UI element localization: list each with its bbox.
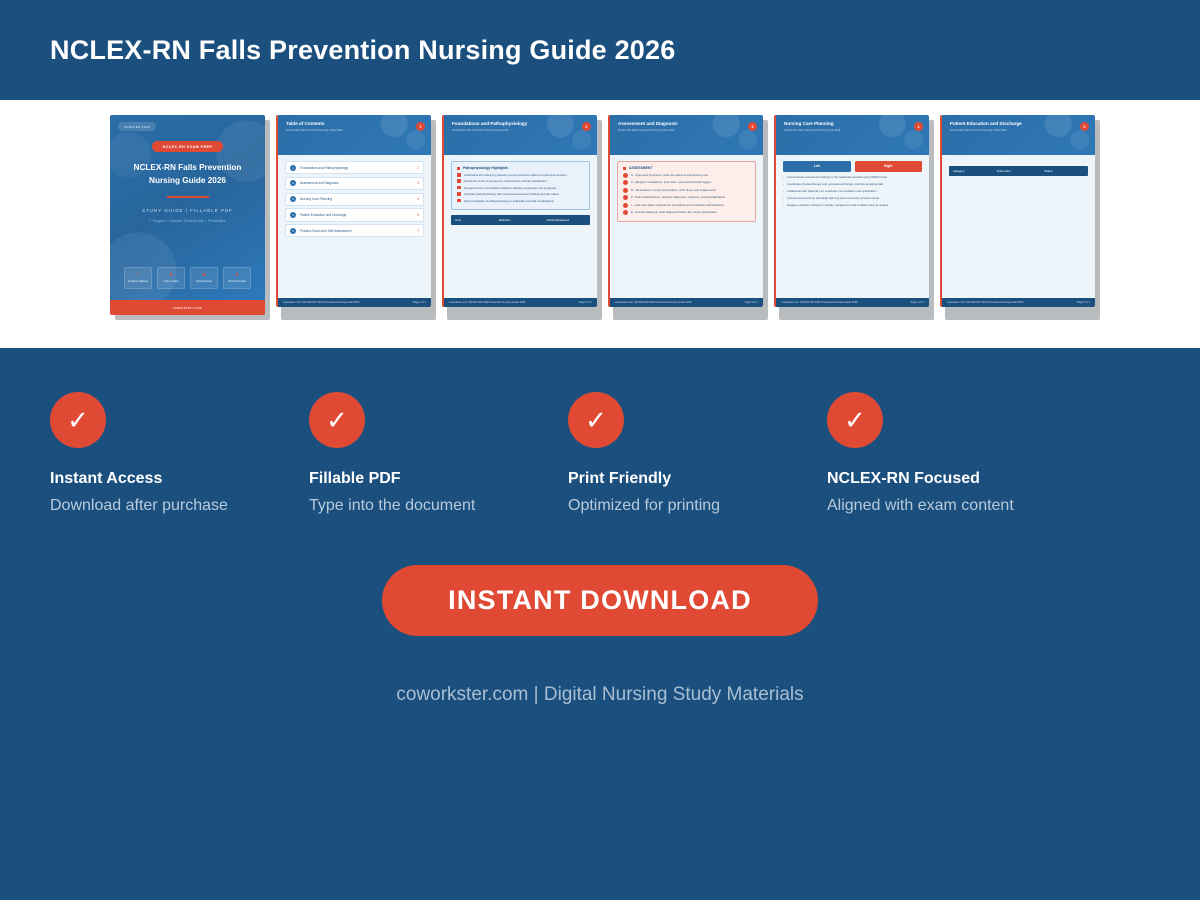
square-icon: ■ — [202, 273, 205, 278]
marker-icon — [457, 186, 461, 190]
care-item: ›Communicate assessment findings to the … — [783, 175, 922, 179]
table-col-header: Action Item — [993, 166, 1041, 176]
care-item: ›Consult social work for discharge plann… — [783, 196, 922, 200]
assessment-box: ASSESSMENT S - Signs and Symptoms: what … — [617, 161, 756, 222]
page-number-badge: 1 — [416, 122, 425, 131]
page-heading: Table of Contents — [286, 121, 423, 126]
assessment-item: A - Allergies: medications, food, latex,… — [623, 180, 750, 185]
toc-bullet: 1 — [290, 165, 296, 171]
cover-feature-label: Evidence Based — [128, 280, 147, 283]
highlights-box: Pathophysiology Highlights Understand th… — [451, 161, 590, 210]
assessment-title: ASSESSMENT — [623, 166, 750, 170]
marker-icon — [623, 203, 628, 208]
page-header: NCLEX-RN Falls Prevention Nursing Guide … — [0, 0, 1200, 100]
check-icon: ✓ — [568, 392, 624, 448]
thumbnail-strip: UPDATED 2026 NCLEX-RN EXAM PREP NCLEX-RN… — [0, 100, 1200, 348]
table-col-header: Definition — [495, 215, 543, 225]
cover-title-line1: NCLEX-RN Falls Prevention — [134, 161, 242, 174]
compare-left-label: Left — [783, 161, 851, 172]
feature-title: Print Friendly — [568, 470, 827, 488]
footer-page: Page 3 of 7 — [745, 301, 758, 304]
thumbnail-page-3[interactable]: Assessment and Diagnosis NCLEX-RN Falls … — [608, 115, 763, 315]
table-col-header: Status — [1040, 166, 1088, 176]
page-preview[interactable]: Table of Contents NCLEX-RN Falls Prevent… — [276, 115, 431, 307]
toc-bullet: 4 — [290, 212, 296, 218]
feature-title: Fillable PDF — [309, 470, 568, 488]
page-number-badge: 3 — [748, 122, 757, 131]
thumbnail-page-2[interactable]: Foundations and Pathophysiology NCLEX-RN… — [442, 115, 597, 315]
footer-site: coworkster.com | NCLEX-RN Falls Preventi… — [283, 301, 360, 304]
footer-page: Page 5 of 7 — [1077, 301, 1090, 304]
highlight-item: Apply knowledge of pathophysiology to an… — [457, 199, 584, 203]
list-marker: › — [783, 196, 784, 200]
cover-divider — [167, 196, 209, 198]
footer-page: Page 4 of 7 — [911, 301, 924, 304]
page-footer: coworkster.com | NCLEX-RN Falls Preventi… — [776, 298, 929, 307]
marker-icon — [623, 173, 628, 178]
page-footer: coworkster.com | NCLEX-RN Falls Preventi… — [610, 298, 763, 307]
star-icon: ★ — [235, 273, 239, 278]
page-body: 1 Foundations and Pathophysiology 2 2 As… — [278, 155, 431, 237]
toc-page-number: 5 — [417, 213, 419, 217]
feature-instant-access: ✓ Instant Access Download after purchase — [50, 392, 309, 515]
marker-icon — [457, 199, 461, 203]
feature-title: NCLEX-RN Focused — [827, 470, 1086, 488]
marker-icon — [457, 179, 461, 183]
toc-item[interactable]: 5 Practice Exam and Self-Assessment 7 — [285, 224, 424, 237]
marker-icon — [623, 210, 628, 215]
page-body: Category Action Item Status — [942, 155, 1095, 176]
check-icon: ✓ — [827, 392, 883, 448]
marker-icon — [457, 173, 461, 177]
toc-item[interactable]: 1 Foundations and Pathophysiology 2 — [285, 161, 424, 174]
page-body: Pathophysiology Highlights Understand th… — [444, 155, 597, 225]
highlight-item: Identify the chain of events from initia… — [457, 179, 584, 183]
feature-title: Instant Access — [50, 470, 309, 488]
page-heading: Patient Education and Discharge — [950, 121, 1087, 126]
thumbnail-cover[interactable]: UPDATED 2026 NCLEX-RN EXAM PREP NCLEX-RN… — [110, 115, 265, 315]
page-footer: coworkster.com | NCLEX-RN Falls Preventi… — [942, 298, 1095, 307]
page-number-badge: 5 — [1080, 122, 1089, 131]
page-header-band: Foundations and Pathophysiology NCLEX-RN… — [444, 115, 597, 155]
highlight-item: Recognize how comorbidities influence di… — [457, 186, 584, 190]
page-title: NCLEX-RN Falls Prevention Nursing Guide … — [50, 35, 675, 66]
page-preview[interactable]: Foundations and Pathophysiology NCLEX-RN… — [442, 115, 597, 307]
page-header-band: Patient Education and Discharge NCLEX-RN… — [942, 115, 1095, 155]
marker-icon — [623, 195, 628, 200]
page-footer: coworkster.com | NCLEX-RN Falls Preventi… — [444, 298, 597, 307]
page-subheading: NCLEX-RN Falls Prevention Nursing Guide … — [286, 129, 423, 132]
assessment-item: P - Past medical history: previous diagn… — [623, 195, 750, 200]
cover-canvas: UPDATED 2026 NCLEX-RN EXAM PREP NCLEX-RN… — [110, 115, 265, 315]
footer-page: Page 2 of 7 — [579, 301, 592, 304]
page-subheading: NCLEX-RN Falls Prevention Nursing Guide … — [618, 129, 755, 132]
cover-feature: ★ Student Tested — [223, 267, 251, 289]
feature-fillable-pdf: ✓ Fillable PDF Type into the document — [309, 392, 568, 515]
feature-print-friendly: ✓ Print Friendly Optimized for printing — [568, 392, 827, 515]
cover-feature-label: Color Coded — [163, 280, 178, 283]
care-item: ›Engage respiratory therapy for airway m… — [783, 203, 922, 207]
feature-list: ✓ Instant Access Download after purchase… — [0, 392, 1200, 515]
toc-page-number: 3 — [417, 181, 419, 185]
assessment-item: M - Medications: current prescriptions, … — [623, 188, 750, 193]
page-body: Left Right ›Communicate assessment findi… — [776, 155, 929, 207]
cover-feature-row: ✓ Evidence Based ★ Color Coded ■ Quick R… — [110, 267, 265, 289]
compare-header: Left Right — [783, 161, 922, 172]
page-footer: coworkster.com | NCLEX-RN Falls Preventi… — [278, 298, 431, 307]
cover-footer: coworkster.com — [110, 300, 265, 315]
square-icon — [623, 167, 626, 170]
page-subheading: NCLEX-RN Falls Prevention Nursing Guide … — [452, 129, 589, 132]
feature-description: Optimized for printing — [568, 497, 827, 515]
cover-feature: ★ Color Coded — [157, 267, 185, 289]
cover-feature: ✓ Evidence Based — [124, 267, 152, 289]
table-header-row: Term Definition Clinical Relevance — [451, 215, 590, 225]
site-line: coworkster.com | Digital Nursing Study M… — [0, 684, 1200, 706]
feature-description: Aligned with exam content — [827, 497, 1086, 515]
assessment-item: S - Signs and Symptoms: what the patient… — [623, 173, 750, 178]
thumbnail-list: UPDATED 2026 NCLEX-RN EXAM PREP NCLEX-RN… — [110, 115, 1095, 315]
page-heading: Nursing Care Planning — [784, 121, 921, 126]
thumbnail-page-1[interactable]: Table of Contents NCLEX-RN Falls Prevent… — [276, 115, 431, 315]
toc-item[interactable]: 2 Assessment and Diagnosis 3 — [285, 177, 424, 190]
page-subheading: NCLEX-RN Falls Prevention Nursing Guide … — [784, 129, 921, 132]
toc-label: Foundations and Pathophysiology — [300, 166, 413, 170]
page-canvas: Assessment and Diagnosis NCLEX-RN Falls … — [610, 115, 763, 307]
page-header-band: Nursing Care Planning NCLEX-RN Falls Pre… — [776, 115, 929, 155]
toc-bullet: 3 — [290, 196, 296, 202]
page-preview[interactable]: Assessment and Diagnosis NCLEX-RN Falls … — [608, 115, 763, 307]
assessment-item: L - Last oral intake: important for proc… — [623, 203, 750, 208]
page-canvas: Nursing Care Planning NCLEX-RN Falls Pre… — [776, 115, 929, 307]
page-heading: Assessment and Diagnosis — [618, 121, 755, 126]
page-preview[interactable]: Patient Education and Discharge NCLEX-RN… — [940, 115, 1095, 307]
square-icon — [457, 167, 460, 170]
instant-download-button[interactable]: INSTANT DOWNLOAD — [382, 565, 818, 636]
thumbnail-page-4[interactable]: Nursing Care Planning NCLEX-RN Falls Pre… — [774, 115, 929, 315]
cover-feature-label: Student Tested — [228, 280, 246, 283]
footer-site: coworkster.com | NCLEX-RN Falls Preventi… — [947, 301, 1024, 304]
cta-container: INSTANT DOWNLOAD — [0, 565, 1200, 636]
footer-site: coworkster.com | NCLEX-RN Falls Preventi… — [615, 301, 692, 304]
page-number-badge: 4 — [914, 122, 923, 131]
marker-icon — [623, 180, 628, 185]
table-header-row: Category Action Item Status — [949, 166, 1088, 176]
highlight-item: Understand the underlying disease proces… — [457, 173, 584, 177]
star-icon: ★ — [169, 273, 173, 278]
toc-bullet: 5 — [290, 228, 296, 234]
cover-subtitle: STUDY GUIDE | FILLABLE PDF — [142, 208, 233, 213]
assessment-title-text: ASSESSMENT — [629, 166, 652, 170]
toc-item[interactable]: 4 Patient Education and Discharge 5 — [285, 208, 424, 221]
highlights-title: Pathophysiology Highlights — [457, 166, 584, 170]
check-icon: ✓ — [50, 392, 106, 448]
list-marker: › — [783, 182, 784, 186]
cover-feature: ■ Quick Review — [190, 267, 218, 289]
toc-item[interactable]: 3 Nursing Care Planning 4 — [285, 193, 424, 206]
toc-label: Patient Education and Discharge — [300, 213, 413, 217]
table-col-header: Clinical Relevance — [542, 215, 590, 225]
feature-nclex-focused: ✓ NCLEX-RN Focused Aligned with exam con… — [827, 392, 1086, 515]
thumbnail-page-5[interactable]: Patient Education and Discharge NCLEX-RN… — [940, 115, 1095, 315]
toc-label: Nursing Care Planning — [300, 197, 413, 201]
list-marker: › — [783, 189, 784, 193]
page-header-band: Assessment and Diagnosis NCLEX-RN Falls … — [610, 115, 763, 155]
toc-page-number: 7 — [417, 229, 419, 233]
feature-description: Type into the document — [309, 497, 568, 515]
care-item: ›Collaborate with pharmacy for medicatio… — [783, 189, 922, 193]
cover-page[interactable]: UPDATED 2026 NCLEX-RN EXAM PREP NCLEX-RN… — [110, 115, 265, 315]
list-marker: › — [783, 203, 784, 207]
cover-title-line2: Nursing Guide 2026 — [149, 174, 226, 187]
footer-site: coworkster.com | NCLEX-RN Falls Preventi… — [781, 301, 858, 304]
page-body: ASSESSMENT S - Signs and Symptoms: what … — [610, 155, 763, 222]
highlights-title-text: Pathophysiology Highlights — [463, 166, 508, 170]
check-icon: ✓ — [309, 392, 365, 448]
highlight-item: Correlate pathophysiology with expected … — [457, 192, 584, 196]
page-canvas: Patient Education and Discharge NCLEX-RN… — [942, 115, 1095, 307]
footer-page: Page 1 of 7 — [413, 301, 426, 304]
toc-page-number: 4 — [417, 197, 419, 201]
check-icon: ✓ — [136, 273, 140, 278]
page-canvas: Foundations and Pathophysiology NCLEX-RN… — [444, 115, 597, 307]
toc-bullet: 2 — [290, 180, 296, 186]
marker-icon — [623, 188, 628, 193]
table-col-header: Term — [451, 215, 495, 225]
care-item: ›Coordinate physical therapy and occupat… — [783, 182, 922, 186]
page-number-badge: 2 — [582, 122, 591, 131]
cover-meta: 7 Pages • Instant Download • Printable — [149, 219, 226, 223]
page-preview[interactable]: Nursing Care Planning NCLEX-RN Falls Pre… — [774, 115, 929, 307]
toc-label: Practice Exam and Self-Assessment — [300, 229, 413, 233]
page-canvas: Table of Contents NCLEX-RN Falls Prevent… — [278, 115, 431, 307]
page-subheading: NCLEX-RN Falls Prevention Nursing Guide … — [950, 129, 1087, 132]
list-marker: › — [783, 175, 784, 179]
exam-prep-badge: NCLEX-RN EXAM PREP — [152, 141, 224, 152]
footer-site: coworkster.com | NCLEX-RN Falls Preventi… — [449, 301, 526, 304]
feature-description: Download after purchase — [50, 497, 309, 515]
toc-page-number: 2 — [417, 166, 419, 170]
compare-right-label: Right — [855, 161, 923, 172]
marker-icon — [457, 192, 461, 196]
cover-feature-label: Quick Review — [196, 280, 212, 283]
page-header-band: Table of Contents NCLEX-RN Falls Prevent… — [278, 115, 431, 155]
page-heading: Foundations and Pathophysiology — [452, 121, 589, 126]
updated-badge: UPDATED 2026 — [118, 122, 156, 131]
toc-label: Assessment and Diagnosis — [300, 181, 413, 185]
table-col-header: Category — [949, 166, 993, 176]
assessment-item: E - Events leading up: what happened bef… — [623, 210, 750, 215]
